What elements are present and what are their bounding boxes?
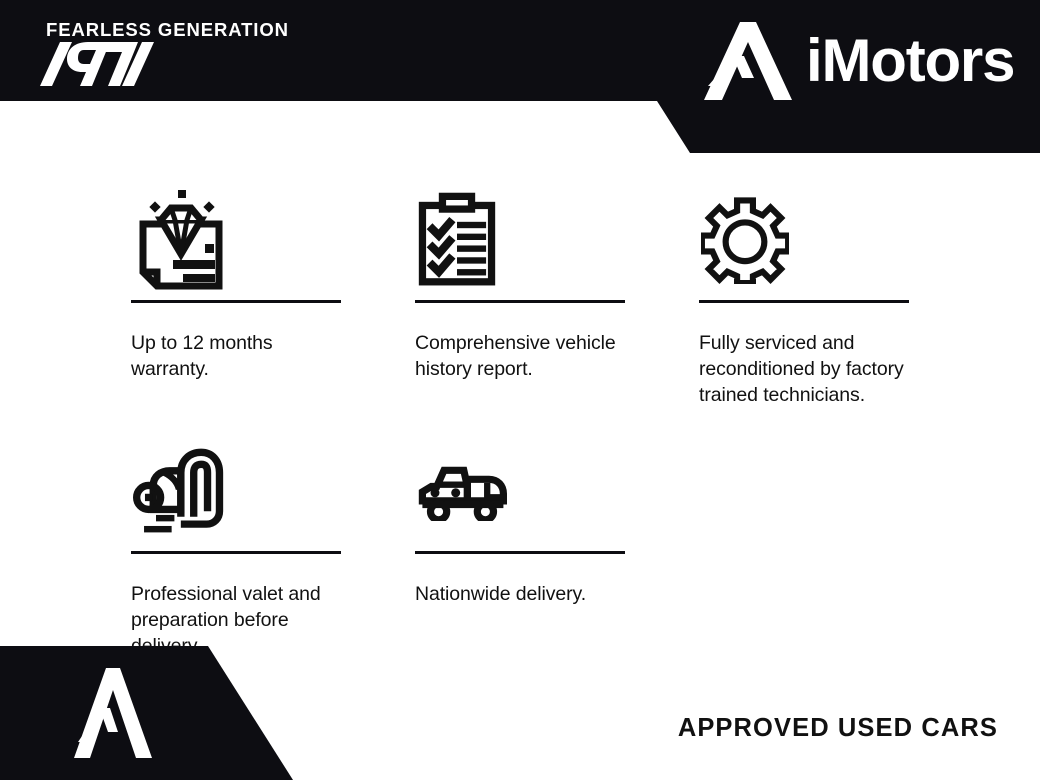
1971-slanted-wordmark-icon [34, 38, 154, 90]
feature-item-delivery: Nationwide delivery. [415, 431, 625, 660]
feature-item-warranty: Up to 12 months warranty. [131, 180, 341, 409]
feature-text: Nationwide delivery. [415, 582, 625, 608]
promo-banner: FEARLESS GENERATION [0, 0, 1040, 780]
vacuum-cleaner-icon [131, 431, 341, 551]
feature-divider [415, 551, 625, 554]
footer-tagline: APPROVED USED CARS [678, 714, 998, 743]
feature-divider [131, 551, 341, 554]
imotors-chevron-logo-icon [700, 22, 792, 100]
feature-grid: Up to 12 months warranty. [131, 180, 921, 660]
feature-divider [415, 300, 625, 303]
feature-text: Fully serviced and reconditioned by fact… [699, 331, 909, 409]
brand-lockup: iMotors [700, 22, 1014, 100]
feature-item-empty [699, 431, 909, 660]
feature-divider [699, 300, 909, 303]
feature-row: Professional valet and preparation befor… [131, 431, 921, 660]
feature-item-history-report: Comprehensive vehicle history report. [415, 180, 625, 409]
feature-text: Up to 12 months warranty. [131, 331, 341, 383]
feature-divider [131, 300, 341, 303]
row-spacer [131, 409, 921, 431]
feature-text: Comprehensive vehicle history report. [415, 331, 625, 383]
header-bar: FEARLESS GENERATION [0, 0, 1040, 153]
brand-name: iMotors [806, 31, 1014, 91]
imotors-chevron-logo-icon [70, 668, 152, 758]
warranty-gem-certificate-icon [131, 180, 341, 300]
feature-row: Up to 12 months warranty. [131, 180, 921, 409]
gear-icon [699, 180, 909, 300]
feature-item-valet: Professional valet and preparation befor… [131, 431, 341, 660]
feature-item-serviced: Fully serviced and reconditioned by fact… [699, 180, 909, 409]
clipboard-checklist-icon [415, 180, 625, 300]
car-transporter-truck-icon [415, 431, 625, 551]
